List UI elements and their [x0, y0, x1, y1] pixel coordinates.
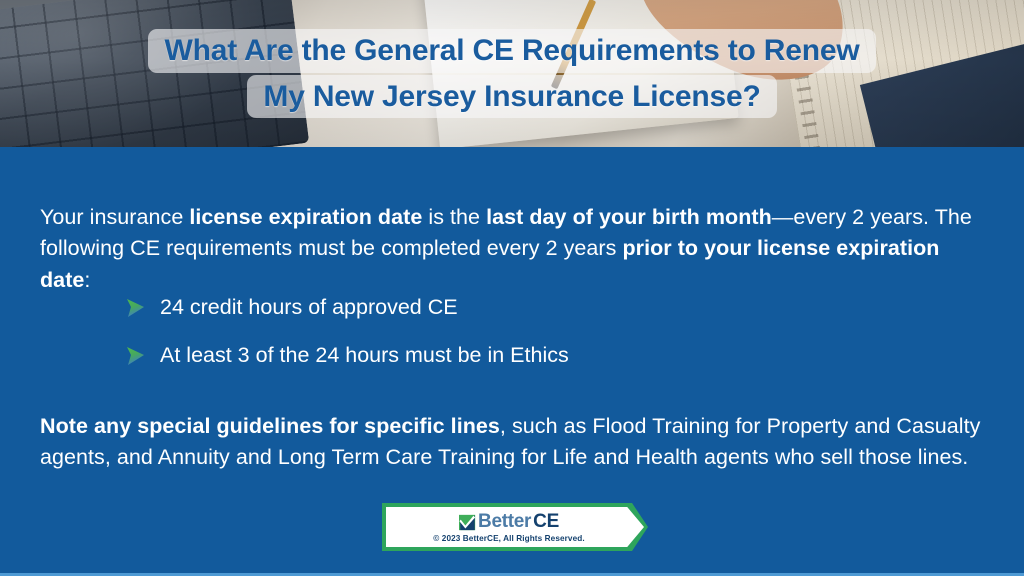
- page-title: What Are the General CE Requirements to …: [0, 0, 1024, 147]
- logo-badge: BetterCE © 2023 BetterCE, All Rights Res…: [382, 503, 648, 551]
- list-item: At least 3 of the 24 hours must be in Et…: [124, 342, 884, 370]
- intro-text-4: :: [84, 268, 90, 292]
- list-item: 24 credit hours of approved CE: [124, 294, 884, 322]
- list-item-label: 24 credit hours of approved CE: [160, 294, 458, 322]
- brand-logo: BetterCE: [459, 511, 559, 533]
- logo-text-better: Better: [478, 511, 531, 533]
- page-title-line-2: My New Jersey Insurance License?: [247, 75, 776, 118]
- intro-bold-2: last day of your birth month: [486, 205, 772, 229]
- intro-paragraph: Your insurance license expiration date i…: [40, 202, 986, 297]
- copyright-text: © 2023 BetterCE, All Rights Reserved.: [433, 534, 584, 543]
- intro-text-2: is the: [422, 205, 486, 229]
- logo-badge-inner: BetterCE © 2023 BetterCE, All Rights Res…: [386, 507, 644, 547]
- intro-bold-1: license expiration date: [189, 205, 422, 229]
- checkmark-logo-icon: [459, 514, 476, 531]
- list-item-label: At least 3 of the 24 hours must be in Et…: [160, 342, 569, 370]
- page-title-line-1: What Are the General CE Requirements to …: [148, 29, 875, 72]
- logo-text-ce: CE: [533, 511, 559, 533]
- arrow-right-bullet-icon: [124, 345, 146, 367]
- infographic-card: What Are the General CE Requirements to …: [0, 0, 1024, 576]
- intro-text-1: Your insurance: [40, 205, 189, 229]
- note-bold-1: Note any special guidelines for specific…: [40, 414, 500, 438]
- requirements-list: 24 credit hours of approved CE At least …: [124, 294, 884, 390]
- note-paragraph: Note any special guidelines for specific…: [40, 411, 986, 475]
- arrow-right-bullet-icon: [124, 297, 146, 319]
